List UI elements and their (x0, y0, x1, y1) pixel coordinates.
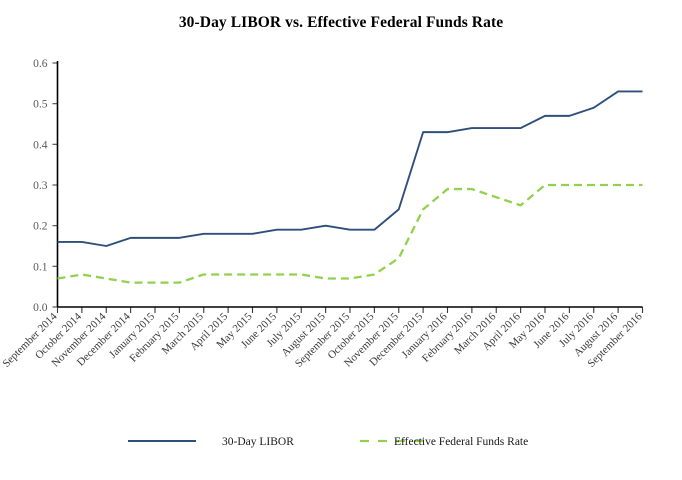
chart-container: 30-Day LIBOR vs. Effective Federal Funds… (0, 0, 682, 480)
y-axis-tick-label: 0.0 (33, 302, 48, 314)
y-axis-tick-label: 0.6 (33, 58, 48, 70)
chart-legend: 30-Day LIBOREffective Federal Funds Rate (128, 436, 528, 448)
y-axis-tick-label: 0.1 (33, 261, 48, 273)
y-axis-tick-label: 0.3 (33, 180, 48, 192)
series-line-2 (58, 185, 643, 283)
chart-plot-area: 0.00.10.20.30.40.50.6 September 2014Octo… (0, 0, 682, 480)
series-line-1 (58, 91, 643, 246)
legend-label-2: Effective Federal Funds Rate (394, 436, 528, 448)
y-axis-tick-label: 0.5 (33, 99, 48, 111)
x-axis-tick-group (58, 307, 643, 313)
data-series-group (58, 91, 643, 282)
y-axis-tick-group: 0.00.10.20.30.40.50.6 (33, 58, 57, 314)
legend-label-1: 30-Day LIBOR (222, 436, 294, 448)
x-axis-label-group: September 2014October 2014November 2014D… (0, 310, 645, 370)
y-axis-tick-label: 0.4 (33, 139, 48, 151)
y-axis-tick-label: 0.2 (33, 221, 48, 233)
